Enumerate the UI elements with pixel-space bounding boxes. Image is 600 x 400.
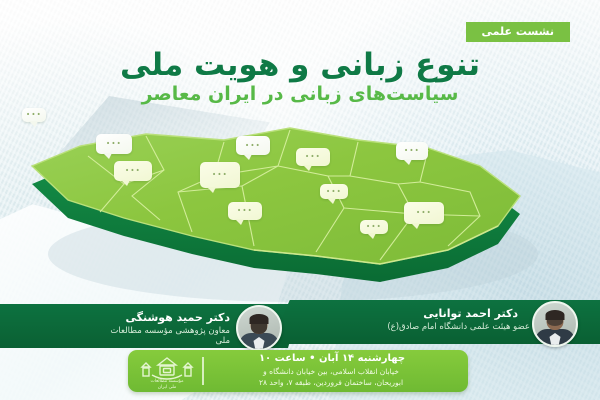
bubble-dots: ••• — [114, 168, 152, 175]
bubble-dots: ••• — [360, 224, 388, 231]
poster-subtitle: سیاست‌های زبانی در ایران معاصر — [30, 84, 570, 106]
map-bubble-6: ••• — [200, 162, 240, 188]
event-date-time: چهارشنبه ۱۴ آبان • ساعت ۱۰ — [208, 353, 456, 365]
event-info-box: چهارشنبه ۱۴ آبان • ساعت ۱۰ خیابان انقلاب… — [128, 350, 468, 392]
address-line-2: ابوریحان، ساختمان فروردین، طبقه ۷، واحد … — [206, 377, 456, 388]
map-container: ••• ••• ••• ••• ••• ••• ••• ••• ••• ••• … — [0, 104, 600, 304]
speaker-role-right-line1: عضو هیئت علمی دانشگاه امام صادق(ع) — [320, 322, 530, 333]
bubble-dots: ••• — [96, 141, 132, 148]
speaker-name-left: دکتر حمید هوشنگی — [70, 311, 230, 325]
event-type-badge: نشست علمی — [466, 22, 571, 42]
map-bubble-11: ••• — [404, 202, 444, 224]
event-address: خیابان انقلاب اسلامی، بین خیابان دانشگاه… — [206, 366, 456, 389]
map-bubble-8: ••• — [320, 184, 348, 199]
avatar-hair — [546, 310, 565, 320]
speaker-role-left-line2: ملی — [28, 336, 230, 347]
bubble-dots: ••• — [396, 148, 428, 155]
logo-caption: مؤسسه مطالعات ملی ایران — [138, 379, 196, 391]
speaker-avatar-right — [532, 301, 578, 347]
avatar-hair — [250, 314, 269, 324]
map-bubble-3: ••• — [236, 136, 270, 155]
map-bubble-9: ••• — [228, 202, 262, 220]
bubble-dots: ••• — [236, 142, 270, 149]
map-bubble-1: ••• — [22, 108, 46, 122]
logo-caption-line-2: ملی ایران — [138, 385, 196, 391]
map-bubble-7: ••• — [296, 148, 330, 166]
address-line-1: خیابان انقلاب اسلامی، بین خیابان دانشگاه… — [206, 366, 456, 377]
speaker-avatar-left — [236, 305, 282, 351]
map-bubble-10: ••• — [360, 220, 388, 234]
event-poster: نشست علمی تنوع زبانی و هویت ملی سیاست‌ها… — [0, 0, 600, 400]
bubble-dots: ••• — [228, 208, 262, 215]
bubble-dots: ••• — [320, 188, 348, 195]
bubble-dots: ••• — [404, 210, 444, 217]
info-divider — [202, 357, 204, 385]
map-bubble-5: ••• — [114, 161, 152, 181]
bubble-dots: ••• — [22, 112, 46, 119]
map-bubble-2: ••• — [96, 134, 132, 154]
bubble-dots: ••• — [200, 172, 240, 179]
speaker-name-right: دکتر احمد توانایی — [328, 307, 518, 321]
poster-title: تنوع زبانی و هویت ملی — [30, 48, 570, 83]
bubble-dots: ••• — [296, 154, 330, 161]
map-bubble-4: ••• — [396, 142, 428, 160]
